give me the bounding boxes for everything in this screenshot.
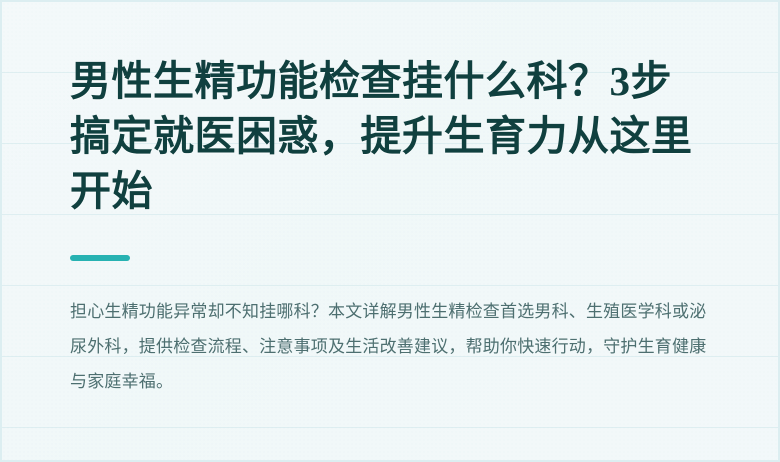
accent-divider <box>70 255 130 261</box>
page-title: 男性生精功能检查挂什么科？3步搞定就医困惑，提升生育力从这里开始 <box>70 54 710 219</box>
article-hero-card: 男性生精功能检查挂什么科？3步搞定就医困惑，提升生育力从这里开始 担心生精功能异… <box>0 0 780 462</box>
article-content: 男性生精功能检查挂什么科？3步搞定就医困惑，提升生育力从这里开始 担心生精功能异… <box>2 2 778 400</box>
article-description: 担心生精功能异常却不知挂哪科？本文详解男性生精检查首选男科、生殖医学科或泌尿外科… <box>70 295 710 400</box>
